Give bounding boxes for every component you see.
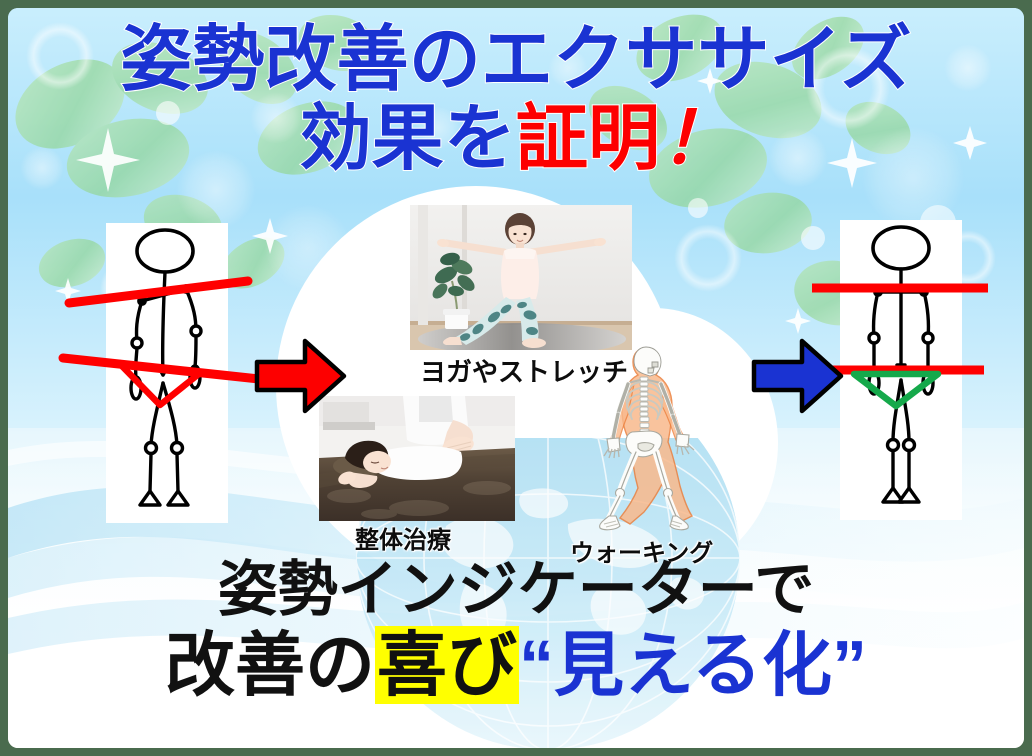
headline-block: 姿勢改善のエクササイズ 効果を証明！	[8, 24, 1024, 177]
photo-seitai	[319, 396, 515, 521]
after-posture-panel	[840, 220, 962, 520]
footer-line2-prefix: 改善の	[165, 626, 375, 704]
headline-exclamation: ！	[660, 99, 732, 179]
footer-line1: 姿勢インジケーターで	[8, 560, 1024, 620]
arrow-right-blue	[750, 335, 845, 417]
feet	[600, 516, 689, 530]
yoga-woman-warrior-pose	[410, 205, 632, 350]
headline-line2-red: 証明	[516, 99, 660, 179]
headline-line2: 効果を証明！	[8, 103, 1024, 176]
footer-line2: 改善の喜び“見える化”	[8, 630, 1024, 700]
footer-line2-suffix: “見える化”	[519, 626, 867, 704]
footer-line2-highlight: 喜び	[375, 626, 519, 704]
bad-posture-figure	[106, 223, 228, 523]
poster-frame: 姿勢改善のエクササイズ 効果を証明！	[8, 8, 1024, 748]
right-arrow-icon	[257, 341, 344, 411]
right-arrow-icon	[754, 341, 841, 411]
caption-seitai: 整体治療	[355, 520, 451, 555]
photo-yoga	[410, 205, 632, 350]
headline-line2-blue: 効果を	[300, 99, 516, 179]
headline-line1: 姿勢改善のエクササイズ	[8, 24, 1024, 97]
good-posture-figure	[840, 220, 962, 520]
before-posture-panel	[106, 223, 228, 523]
chiropractic-massage-treatment	[319, 396, 515, 521]
caption-yoga: ヨガやストレッチ	[420, 352, 628, 389]
poster-root: 姿勢改善のエクササイズ 効果を証明！	[0, 0, 1032, 756]
arrow-left-red	[253, 335, 348, 417]
